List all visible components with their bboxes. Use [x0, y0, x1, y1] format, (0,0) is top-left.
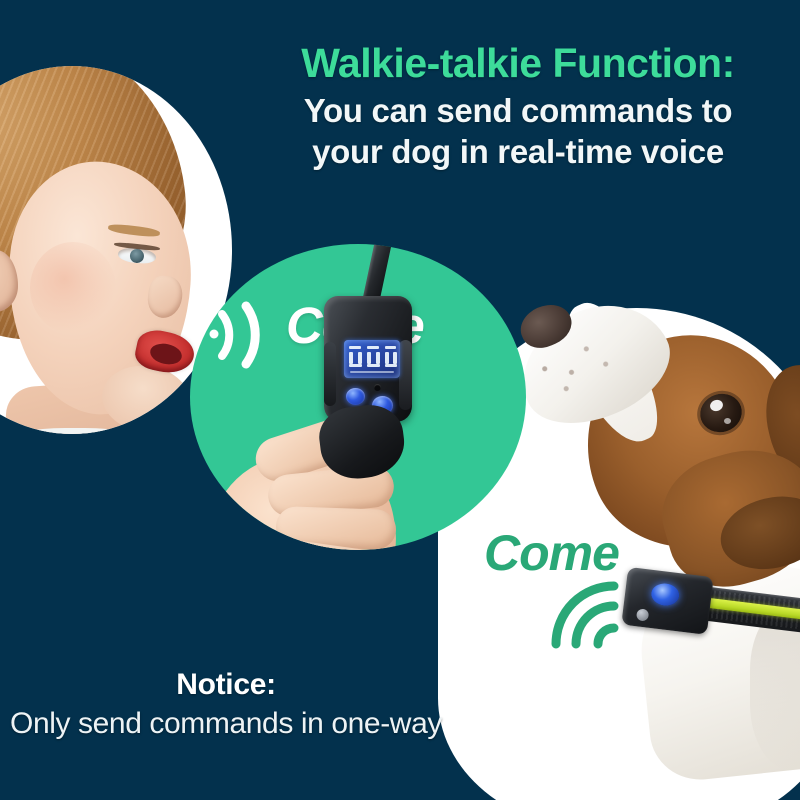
iris: [129, 248, 144, 263]
microphone-hole: [374, 384, 381, 391]
cheek: [30, 242, 116, 334]
remote-button[interactable]: [346, 388, 365, 405]
dog-illustration: [524, 302, 800, 772]
notice: Notice: Only send commands in one-way: [0, 668, 466, 741]
receiver-contact-prong: [636, 608, 649, 621]
receiver-led-indicator: [650, 582, 680, 607]
headline: Walkie-talkie Function: You can send com…: [238, 42, 798, 173]
remote-grip-right: [399, 340, 412, 410]
dog-eye-highlight-small: [724, 418, 731, 424]
remote-lcd-screen: [344, 340, 400, 378]
headline-subtitle: You can send commands to your dog in rea…: [238, 91, 798, 173]
walkie-talkie-remote: [318, 266, 416, 482]
notice-text: Only send commands in one-way: [0, 707, 466, 741]
headline-subtitle-line-1: You can send commands to: [238, 91, 798, 132]
headline-subtitle-line-2: your dog in real-time voice: [238, 132, 798, 173]
notice-title: Notice:: [0, 668, 466, 702]
remote-body: [324, 296, 412, 422]
remote-control-photo: Come: [190, 244, 526, 550]
remote-grip-left: [324, 342, 336, 406]
page-title: Walkie-talkie Function:: [238, 42, 798, 85]
product-feature-banner: Come: [0, 0, 800, 800]
collar-receiver-unit: [621, 567, 713, 635]
